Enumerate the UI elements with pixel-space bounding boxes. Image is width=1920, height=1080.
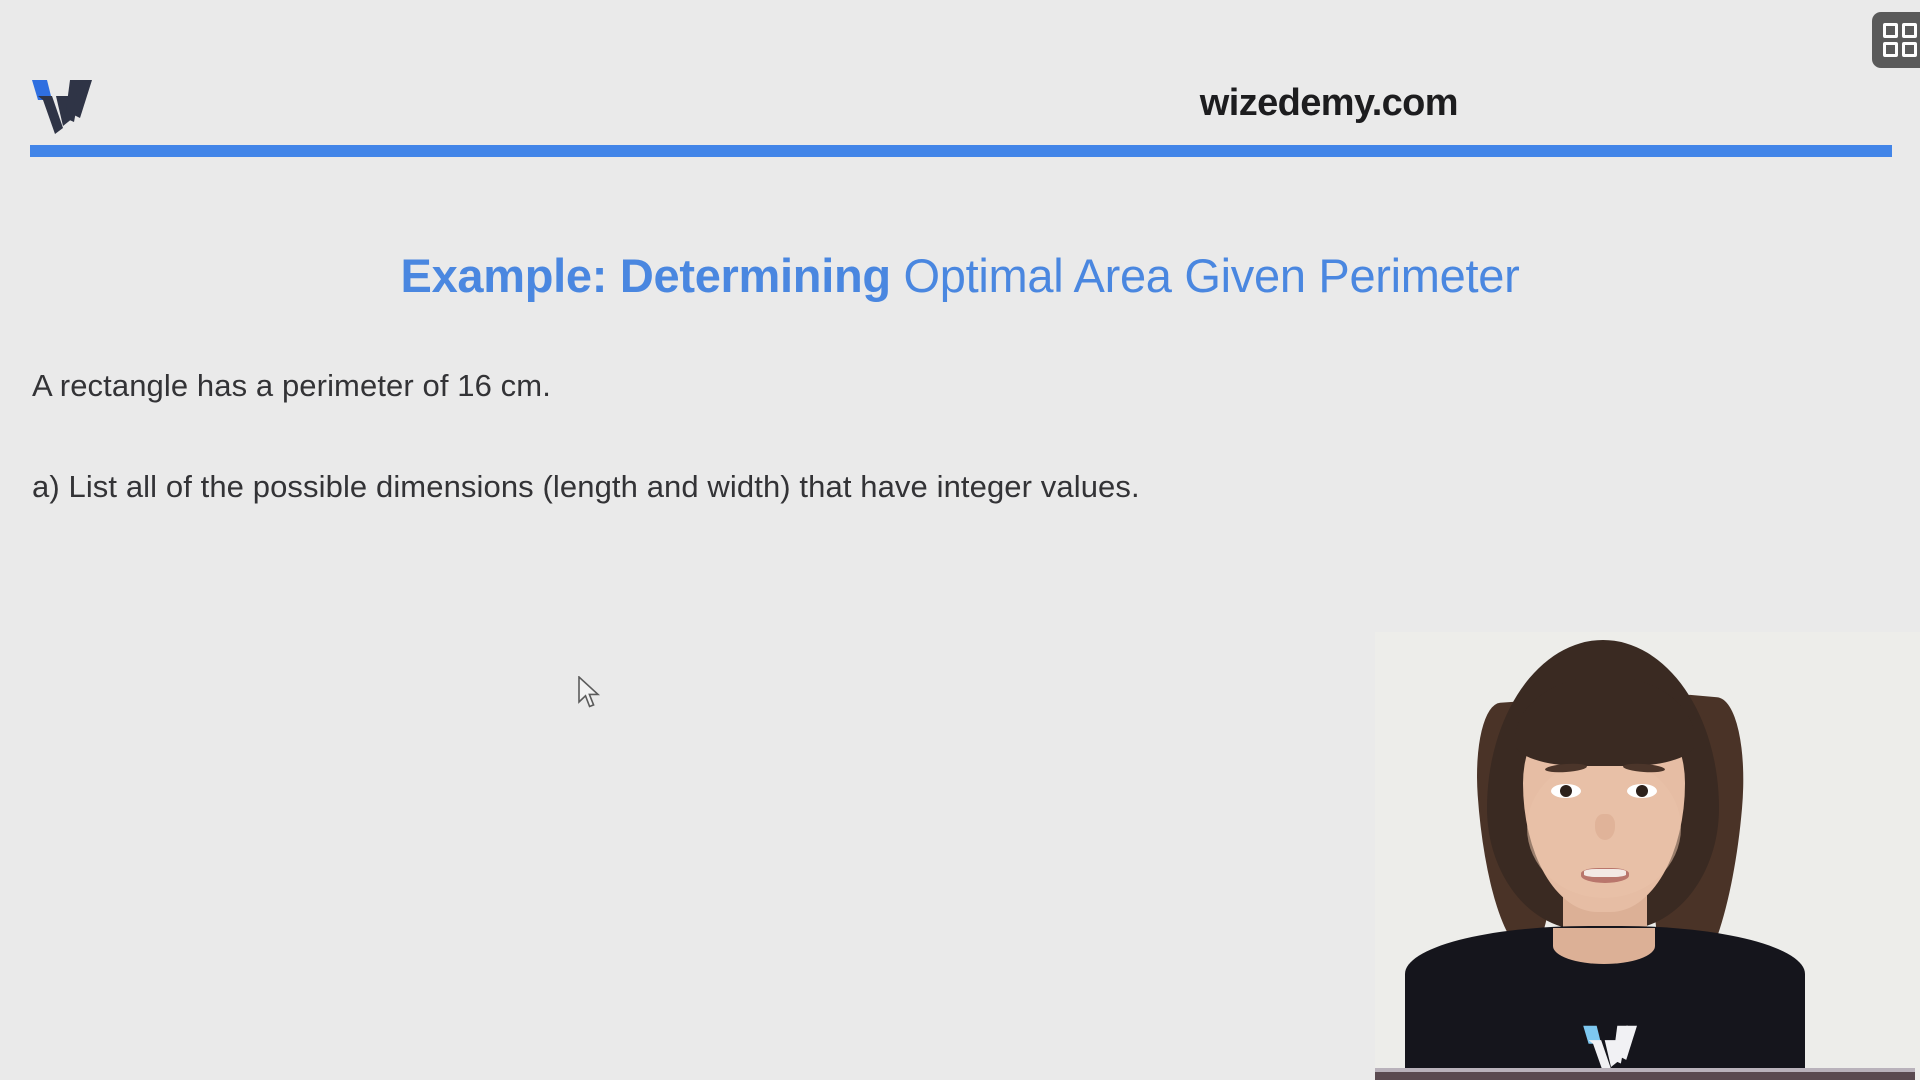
grid-view-button[interactable] (1872, 12, 1920, 68)
presenter-eye-left (1551, 784, 1581, 798)
header-divider-rule (30, 145, 1892, 157)
problem-statement: A rectangle has a perimeter of 16 cm. (32, 368, 551, 404)
slide-stage: wizedemy.com Example: Determining Optima… (0, 0, 1920, 1080)
grid-cell (1883, 42, 1898, 57)
site-name: wizedemy.com (1200, 82, 1458, 125)
presenter-mouth (1581, 868, 1629, 883)
wizedemy-w-logo-icon (30, 78, 96, 136)
presenter-eye-right (1627, 784, 1657, 798)
grid-cell (1902, 42, 1917, 57)
slide-header: wizedemy.com (0, 0, 1920, 160)
presenter-collar (1553, 928, 1655, 964)
presenter-nose (1595, 814, 1615, 840)
grid-cell (1883, 23, 1898, 38)
grid-cell (1902, 23, 1917, 38)
slide-title: Example: Determining Optimal Area Given … (0, 248, 1920, 303)
presenter-webcam-feed (1375, 632, 1920, 1080)
slide-title-light: Optimal Area Given Perimeter (904, 249, 1520, 302)
question-part-a: a) List all of the possible dimensions (… (32, 469, 1140, 505)
slide-title-strong: Example: Determining (401, 249, 904, 302)
desk-edge (1375, 1072, 1915, 1080)
arrow-pointer-icon (576, 676, 602, 710)
grid-four-squares-icon (1883, 23, 1917, 57)
